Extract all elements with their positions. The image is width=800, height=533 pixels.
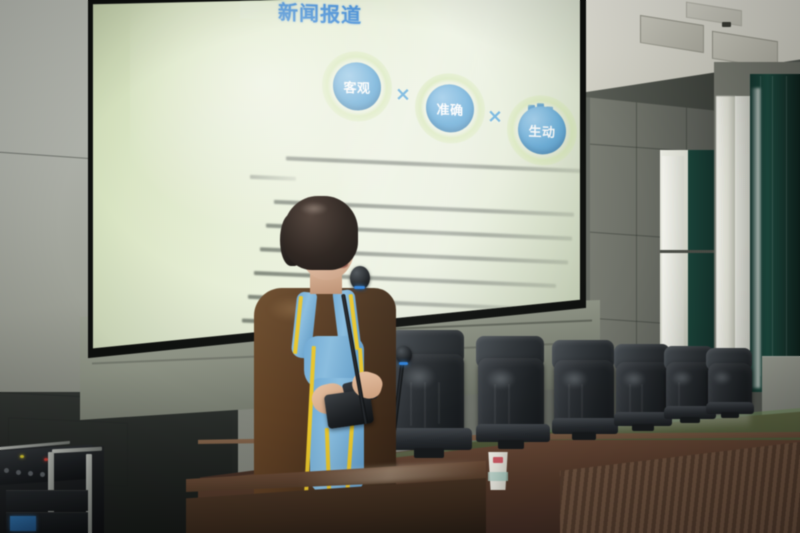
slide-body-line bbox=[250, 175, 296, 181]
diagram-operator: × bbox=[579, 127, 580, 150]
slide-title: 新闻报道 bbox=[278, 0, 362, 29]
sheer-curtain bbox=[662, 156, 684, 360]
air-conditioner bbox=[762, 356, 800, 415]
diagram-operator: × bbox=[487, 105, 503, 128]
curtain-fold bbox=[772, 76, 773, 376]
amplifier-unit[interactable] bbox=[6, 490, 88, 511]
cup-logo bbox=[493, 457, 503, 463]
presenter bbox=[248, 196, 408, 496]
hair-highlight bbox=[300, 202, 328, 215]
window-mullion bbox=[660, 250, 718, 253]
window-daylight bbox=[716, 96, 736, 388]
curtain-fold bbox=[786, 76, 787, 376]
ceiling-fixture bbox=[722, 22, 731, 27]
window-glow bbox=[751, 88, 760, 388]
mixer-knob[interactable] bbox=[28, 471, 33, 476]
mixer-knob[interactable] bbox=[40, 472, 45, 477]
cup-band bbox=[488, 472, 508, 481]
conference-room-photo: 新闻报道 客观 × 准确 × 生动 × 有味 bbox=[0, 0, 800, 533]
curtain-fold bbox=[760, 76, 761, 376]
microphone-indicator bbox=[354, 286, 365, 289]
deck-display bbox=[10, 516, 36, 531]
mixer-knob[interactable] bbox=[16, 470, 21, 475]
diagram-operator: × bbox=[395, 83, 411, 106]
mixer-led bbox=[20, 455, 24, 458]
mixer-knob[interactable] bbox=[4, 468, 9, 473]
